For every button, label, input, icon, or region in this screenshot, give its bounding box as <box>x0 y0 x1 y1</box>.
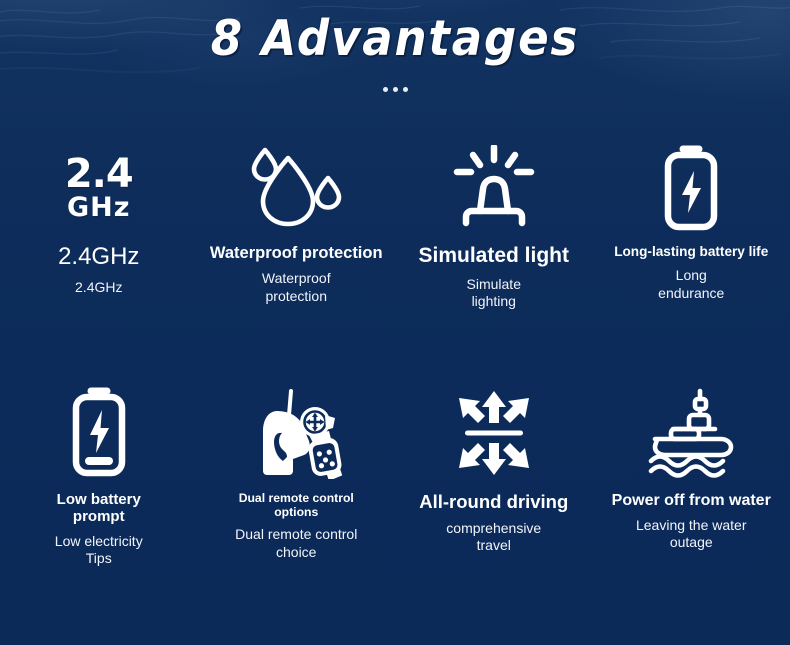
feature-item-simulated-light: Simulated light Simulatelighting <box>395 132 593 374</box>
24ghz-icon-primary: 2.4 <box>65 155 133 193</box>
title-line-2: prompt <box>73 508 125 525</box>
eight-direction-arrows-icon-wrap <box>451 374 537 492</box>
feature-subtitle: Dual remote controlchoice <box>235 519 357 561</box>
title-line-1: Dual remote control <box>239 491 354 505</box>
page-title: 8 Advantages <box>32 0 759 66</box>
dot-1 <box>383 87 388 92</box>
subtitle-line-1: Dual remote control <box>235 526 357 542</box>
low-battery-icon-wrap <box>68 374 130 492</box>
siren-light-icon-wrap <box>450 132 538 244</box>
feature-title: Long-lasting battery life <box>612 244 770 259</box>
page-header: 8 Advantages <box>0 0 790 92</box>
feature-item-waterproof: Waterproof protection Waterproofprotecti… <box>198 132 396 374</box>
feature-item-dual-remote: Dual remote controloptions Dual remote c… <box>198 374 396 616</box>
24ghz-icon: 2.4 GHz <box>65 155 133 221</box>
feature-subtitle: Simulatelighting <box>467 268 521 311</box>
feature-subtitle: Leaving the wateroutage <box>636 510 747 552</box>
feature-subtitle: comprehensivetravel <box>446 513 541 555</box>
subtitle-line-1: Waterproof <box>262 270 331 286</box>
subtitle-line-1: Leaving the water <box>636 517 747 533</box>
subtitle-line-2: travel <box>477 537 511 553</box>
water-droplets-icon <box>248 142 344 234</box>
subtitle-line-2: choice <box>276 544 316 560</box>
subtitle-line-1: Long <box>676 267 707 283</box>
subtitle-line-2: outage <box>670 534 713 550</box>
battery-icon <box>660 143 722 233</box>
title-line-2: options <box>274 505 318 519</box>
feature-subtitle: 2.4GHz <box>75 271 122 297</box>
feature-title: All-round driving <box>417 492 570 513</box>
subtitle-line-2: lighting <box>472 293 516 309</box>
feature-subtitle: Longendurance <box>658 259 724 302</box>
dot-3 <box>403 87 408 92</box>
subtitle-line-2: Tips <box>86 550 112 566</box>
feature-item-battery-life: Long-lasting battery life Longendurance <box>593 132 790 374</box>
dual-remote-control-icon <box>247 387 345 479</box>
advantages-page: 8 Advantages 2.4 GHz 2.4GHz 2.4GHz <box>0 0 790 645</box>
feature-subtitle: Waterproofprotection <box>262 262 331 305</box>
feature-title: Simulated light <box>416 244 571 268</box>
water-droplets-icon-wrap <box>248 132 344 244</box>
feature-item-power-off-water: Power off from water Leaving the waterou… <box>593 374 790 616</box>
feature-item-low-battery: Low batteryprompt Low electricityTips <box>0 374 198 616</box>
low-battery-icon <box>68 386 130 480</box>
24ghz-icon-secondary: GHz <box>65 195 133 221</box>
24ghz-icon-wrap: 2.4 GHz <box>65 132 133 244</box>
subtitle-line-2: protection <box>266 288 327 304</box>
feature-item-24ghz: 2.4 GHz 2.4GHz 2.4GHz <box>0 132 198 374</box>
feature-title: Dual remote controloptions <box>237 492 356 519</box>
feature-item-all-round-driving: All-round driving comprehensivetravel <box>395 374 593 616</box>
subtitle-line-2: endurance <box>658 285 724 301</box>
boat-on-water-icon-wrap <box>643 374 739 492</box>
features-grid: 2.4 GHz 2.4GHz 2.4GHz Waterproof protect… <box>0 132 790 616</box>
feature-title: Waterproof protection <box>208 244 385 262</box>
title-dots-ornament <box>0 87 790 92</box>
title-line-1: Low battery <box>57 491 141 508</box>
dual-remote-control-icon-wrap <box>247 374 345 492</box>
feature-title: Low batteryprompt <box>55 492 143 526</box>
eight-direction-arrows-icon <box>451 390 537 476</box>
subtitle-line-1: Simulate <box>467 276 521 292</box>
dot-2 <box>393 87 398 92</box>
feature-title: 2.4GHz <box>56 244 141 271</box>
subtitle-line-1: Low electricity <box>55 533 143 549</box>
feature-title: Power off from water <box>610 492 773 510</box>
battery-icon-wrap <box>660 132 722 244</box>
subtitle-line-1: comprehensive <box>446 520 541 536</box>
feature-subtitle: Low electricityTips <box>55 526 143 568</box>
boat-on-water-icon <box>643 387 739 479</box>
siren-light-icon <box>450 145 538 231</box>
